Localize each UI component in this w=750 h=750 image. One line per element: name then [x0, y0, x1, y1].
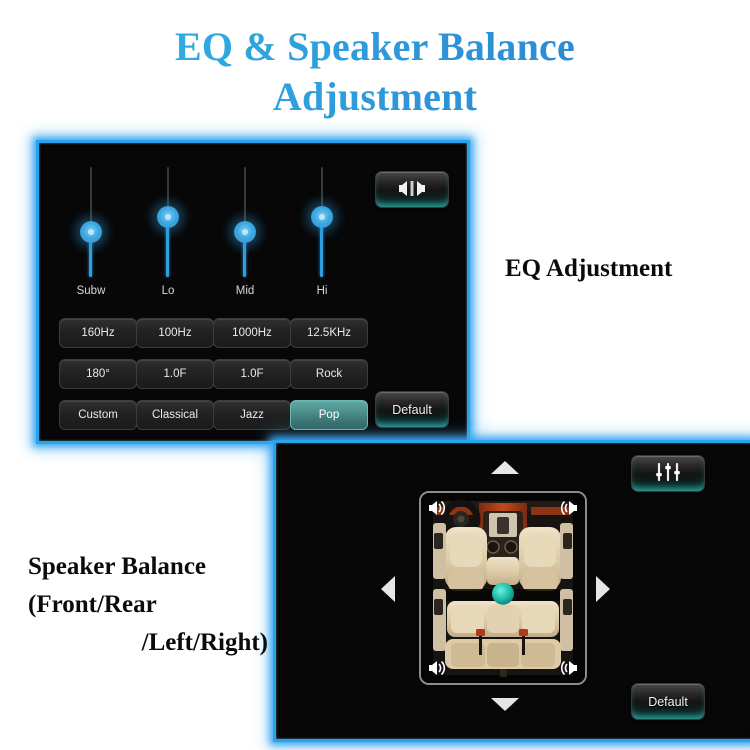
preset-button-160hz[interactable]: 160Hz — [59, 318, 137, 348]
car-balance-pad[interactable] — [419, 491, 587, 685]
screenshot-root: EQ & Speaker Balance Adjustment Subw Lo … — [0, 0, 750, 750]
preset-label: 1.0F — [240, 368, 263, 380]
eq-adjustment-panel: Subw Lo Mid Hi — [36, 140, 470, 444]
preset-label: 1000Hz — [232, 327, 272, 339]
preset-button-front-2[interactable]: 1.0F — [213, 359, 291, 389]
slider-knob[interactable] — [157, 206, 179, 228]
preset-label: 1.0F — [163, 368, 186, 380]
caption-line-1: Speaker Balance — [28, 548, 268, 586]
balance-default-label: Default — [648, 695, 688, 709]
balance-arrow-up[interactable] — [491, 461, 519, 474]
eq-adjustment-caption: EQ Adjustment — [505, 255, 672, 283]
page-title: EQ & Speaker Balance Adjustment — [0, 22, 750, 122]
eq-default-label: Default — [392, 403, 432, 417]
preset-button-jazz[interactable]: Jazz — [213, 400, 291, 430]
eq-slider-label: Subw — [54, 285, 128, 297]
preset-label: Classical — [152, 409, 198, 421]
preset-button-rock[interactable]: Rock — [290, 359, 368, 389]
speaker-balance-icon — [397, 180, 427, 200]
eq-slider-label: Hi — [285, 285, 359, 297]
equalizer-button[interactable] — [631, 455, 705, 492]
speaker-balance-button[interactable] — [375, 171, 449, 208]
preset-label: 100Hz — [158, 327, 191, 339]
car-interior-topview — [421, 493, 585, 683]
preset-button-pop[interactable]: Pop — [290, 400, 368, 430]
preset-label: Jazz — [240, 409, 264, 421]
slider-knob[interactable] — [234, 221, 256, 243]
balance-arrow-down[interactable] — [491, 698, 519, 711]
preset-label: Rock — [316, 368, 342, 380]
preset-label: 180° — [86, 368, 110, 380]
preset-label: Pop — [319, 409, 339, 421]
preset-label: 160Hz — [81, 327, 114, 339]
preset-label: 12.5KHz — [307, 327, 351, 339]
caption-line-2: (Front/Rear — [28, 586, 268, 624]
preset-button-180deg[interactable]: 180° — [59, 359, 137, 389]
preset-button-1000hz[interactable]: 1000Hz — [213, 318, 291, 348]
slider-knob[interactable] — [80, 221, 102, 243]
preset-label: Custom — [78, 409, 118, 421]
balance-arrow-left[interactable] — [381, 576, 395, 602]
caption-line-3: /Left/Right) — [28, 624, 268, 662]
preset-button-100hz[interactable]: 100Hz — [136, 318, 214, 348]
slider-knob[interactable] — [311, 206, 333, 228]
preset-button-12-5khz[interactable]: 12.5KHz — [290, 318, 368, 348]
preset-button-custom[interactable]: Custom — [59, 400, 137, 430]
preset-button-classical[interactable]: Classical — [136, 400, 214, 430]
eq-slider-label: Mid — [208, 285, 282, 297]
eq-slider-label: Lo — [131, 285, 205, 297]
balance-arrow-right[interactable] — [596, 576, 610, 602]
equalizer-icon — [655, 462, 681, 485]
eq-default-button[interactable]: Default — [375, 391, 449, 428]
preset-button-front-1[interactable]: 1.0F — [136, 359, 214, 389]
speaker-balance-caption: Speaker Balance (Front/Rear /Left/Right) — [28, 548, 268, 662]
balance-default-button[interactable]: Default — [631, 683, 705, 720]
speaker-balance-panel: Default — [273, 440, 750, 742]
